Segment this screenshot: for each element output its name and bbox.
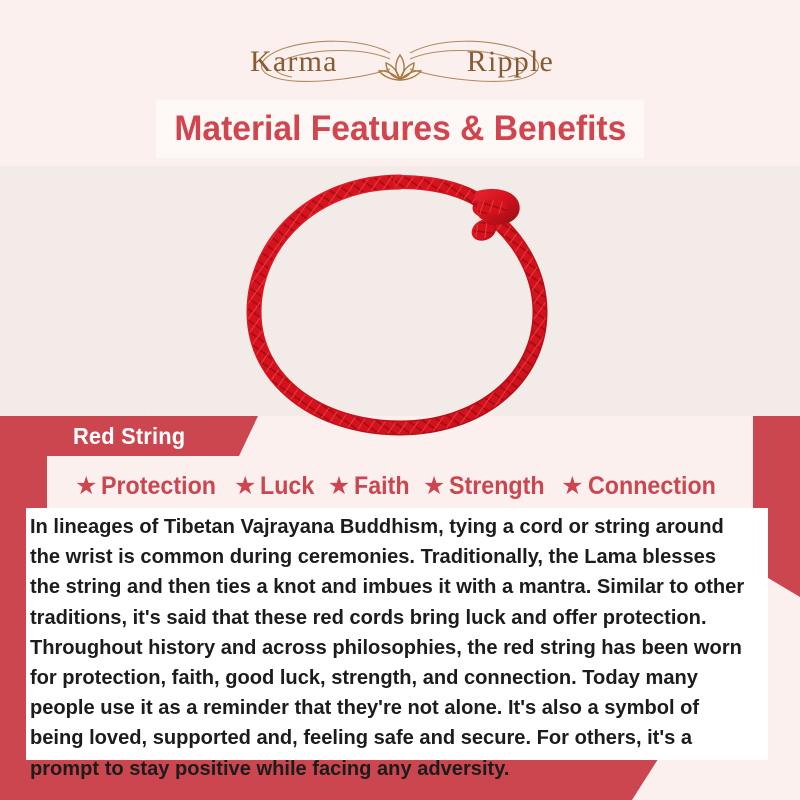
material-label: Red String <box>73 423 185 450</box>
star-icon: ★ <box>234 474 256 499</box>
star-icon: ★ <box>423 474 445 499</box>
header: Karma Ripple Material Features & Benefit… <box>0 0 800 166</box>
benefits-row: ★ Protection ★ Luck ★ Faith ★ Strength ★… <box>47 464 753 508</box>
benefit-label: Protection <box>101 472 216 501</box>
title-banner: Material Features & Benefits <box>156 100 644 158</box>
benefit-strength: ★ Strength <box>423 472 552 501</box>
star-icon: ★ <box>561 474 583 499</box>
brand-name-ripple: Ripple <box>467 45 554 79</box>
bracelet-icon <box>240 166 560 446</box>
benefit-protection: ★ Protection <box>75 472 225 501</box>
star-icon: ★ <box>75 474 97 499</box>
star-icon: ★ <box>328 474 350 499</box>
description-text: In lineages of Tibetan Vajrayana Buddhis… <box>26 512 757 784</box>
material-label-banner: Red String <box>26 416 258 456</box>
product-infographic-card: Karma Ripple Material Features & Benefit… <box>0 0 800 800</box>
benefit-label: Connection <box>588 472 716 501</box>
benefit-luck: ★ Luck <box>234 472 319 501</box>
benefit-faith: ★ Faith <box>328 472 414 501</box>
description-panel: In lineages of Tibetan Vajrayana Buddhis… <box>26 508 768 760</box>
benefit-label: Faith <box>354 472 410 501</box>
brand-name-karma: Karma <box>250 45 338 79</box>
product-image-area <box>0 166 800 416</box>
benefit-label: Strength <box>449 472 545 501</box>
lotus-icon <box>374 51 426 85</box>
benefit-label: Luck <box>260 472 314 501</box>
bracelet-image <box>0 166 800 446</box>
benefit-connection: ★ Connection <box>561 472 725 501</box>
page-title: Material Features & Benefits <box>174 109 626 149</box>
brand-logo: Karma Ripple <box>0 38 800 100</box>
